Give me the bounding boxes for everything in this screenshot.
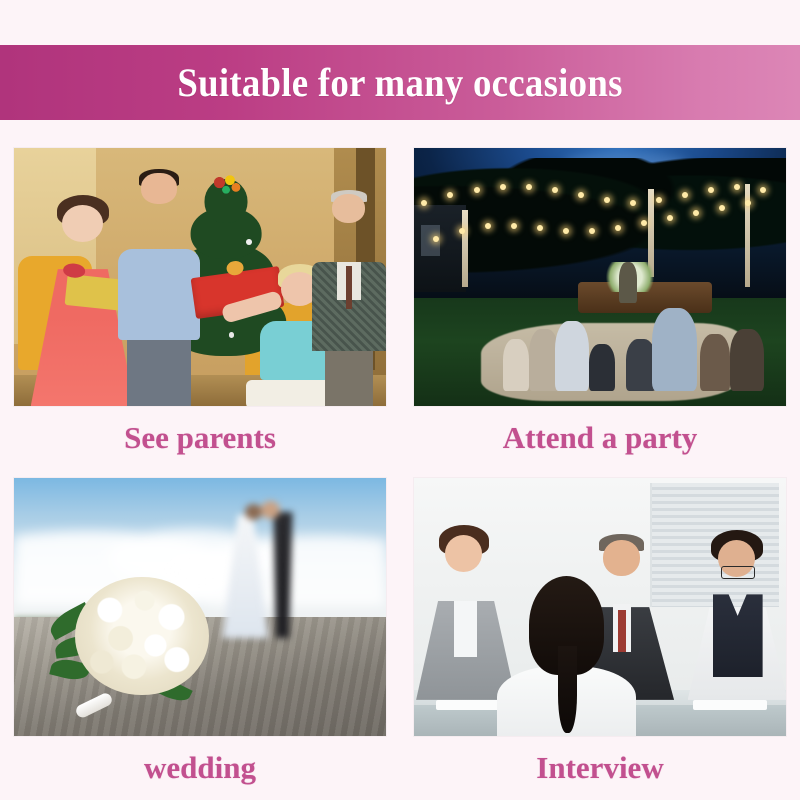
blurred-bride-and-groom — [222, 504, 296, 638]
bride-gown — [222, 515, 268, 638]
occasion-card-interview[interactable]: Interview — [400, 470, 800, 800]
ornament — [229, 332, 235, 338]
caption-interview: Interview — [536, 752, 663, 783]
job-interview-panel-photo — [414, 478, 786, 736]
interviewer-woman-right — [693, 540, 782, 700]
header-banner: Suitable for many occasions — [0, 45, 800, 120]
guest — [652, 308, 697, 391]
promo-page: Suitable for many occasions — [0, 0, 800, 800]
ornament — [246, 239, 252, 245]
occasions-grid: See parents — [0, 140, 800, 800]
tree-topper-icon — [210, 173, 243, 197]
guest — [589, 344, 615, 390]
standing-guest — [619, 262, 638, 303]
trousers — [127, 335, 191, 406]
navy-vest — [713, 594, 763, 677]
wedding-bouquet-bride-groom-photo — [14, 478, 386, 736]
caption-attend-a-party: Attend a party — [503, 422, 698, 453]
caption-see-parents: See parents — [124, 422, 276, 453]
standing-older-man — [312, 194, 386, 406]
family-christmas-gift-exchange-photo — [14, 148, 386, 406]
ponytail — [558, 646, 577, 732]
necktie — [346, 266, 352, 308]
white-rose-bouquet — [51, 571, 222, 715]
guest — [700, 334, 730, 391]
rose-cluster — [75, 577, 208, 695]
head — [62, 205, 103, 242]
white-top — [454, 601, 477, 657]
blue-polo-shirt — [118, 249, 200, 339]
guest — [730, 329, 763, 391]
head — [332, 194, 365, 222]
head — [141, 173, 177, 203]
occasion-card-attend-a-party[interactable]: Attend a party — [400, 140, 800, 470]
occasion-card-see-parents[interactable]: See parents — [0, 140, 400, 470]
guest — [503, 339, 529, 391]
young-man-in-blue-shirt — [114, 169, 203, 406]
interviewer-woman-left — [421, 535, 510, 700]
guest — [555, 321, 588, 391]
outdoor-night-garden-party-photo — [414, 148, 786, 406]
occasion-card-wedding[interactable]: wedding — [0, 470, 400, 800]
tree-line — [414, 158, 786, 277]
light-pole — [462, 210, 467, 287]
groom-suit — [267, 512, 297, 638]
candidate-back-view — [511, 576, 623, 736]
notepad — [693, 700, 767, 710]
page-title: Suitable for many occasions — [177, 59, 622, 106]
head — [445, 535, 482, 572]
head — [603, 540, 640, 576]
caption-wedding: wedding — [144, 752, 256, 783]
trousers — [325, 347, 373, 406]
bride-head — [245, 504, 263, 520]
eyeglasses-icon — [721, 566, 755, 579]
